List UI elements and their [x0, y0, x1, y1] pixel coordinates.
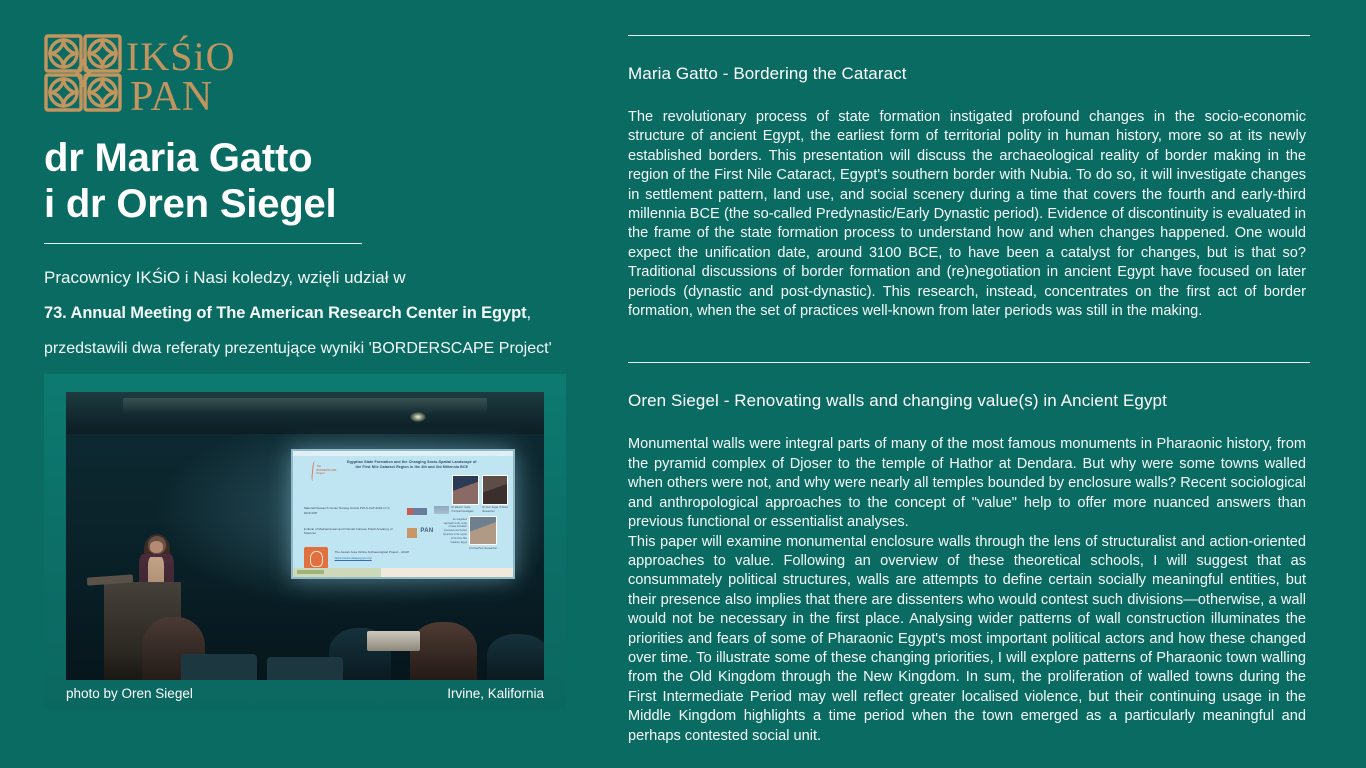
poster-page: IKŚiO PAN dr Maria Gatto i dr Oren Siege… — [0, 0, 1366, 768]
abstract-paragraph: This paper will examine monumental enclo… — [628, 533, 1306, 746]
svg-text:PAN: PAN — [130, 74, 213, 116]
audience-silhouette — [410, 622, 477, 680]
section-spacer — [628, 746, 1326, 754]
left-column: IKŚiO PAN dr Maria Gatto i dr Oren Siege… — [0, 0, 620, 768]
slide-portrait-caption-a: Dr Maria C. Gatto, Principal Investigato… — [452, 506, 481, 513]
auditorium-chair — [181, 654, 257, 680]
divider-middle — [628, 362, 1310, 363]
photo-credit: photo by Oren Siegel — [66, 686, 193, 701]
slide-portrait-caption-c: Dr Anna Pieri, Researcher — [469, 547, 500, 550]
intro-line-3: przedstawili dwa referaty prezentujące w… — [44, 337, 620, 360]
speaker-face — [150, 541, 163, 552]
slide-emblem-1 — [407, 508, 427, 515]
page-title: dr Maria Gatto i dr Oren Siegel — [44, 136, 620, 227]
slide-pan-label: PAN — [420, 528, 433, 534]
slide-affiliation: National Research Center Norway Grants P… — [304, 506, 397, 516]
conference-name: 73. Annual Meeting of The American Resea… — [44, 304, 527, 322]
abstract-heading-1: Maria Gatto - Bordering the Cataract — [628, 64, 1326, 84]
abstract-paragraph: The revolutionary process of state forma… — [628, 108, 1306, 321]
abstract-heading-2: Oren Siegel - Renovating walls and chang… — [628, 391, 1326, 411]
slide-portrait-c — [469, 516, 497, 545]
photo-ceiling-light — [410, 412, 426, 422]
section-spacer — [628, 321, 1326, 343]
pan-square-icon — [407, 528, 417, 538]
slide-blurb: An integrated approach to the study of s… — [443, 518, 467, 545]
slide-pan-logo: PAN — [407, 527, 442, 539]
abstract-body-1: The revolutionary process of state forma… — [628, 108, 1306, 321]
audience-laptop — [367, 631, 420, 651]
audience-silhouette — [487, 634, 544, 680]
slide-portrait-caption-b: Dr Oren Siegel, Postdoc Researcher — [482, 506, 511, 513]
slide-institute: Institute of Mediterranean and Oriental … — [304, 527, 397, 537]
logo-wordmark: IKŚiO PAN — [126, 30, 256, 116]
slide-project-title: The Aswan Area Online Archaeological Pro… — [335, 550, 410, 554]
projection-screen: The BORDERSCAPE Project Egyptian State F… — [291, 449, 516, 579]
slide-logo-text: The BORDERSCAPE Project — [316, 465, 341, 476]
conference-photo: The BORDERSCAPE Project Egyptian State F… — [66, 392, 544, 680]
auditorium-chair — [267, 657, 343, 680]
slide-project-line: The Aswan Area Online Archaeological Pro… — [335, 550, 434, 561]
svg-text:IKŚiO: IKŚiO — [126, 34, 235, 79]
intro-line-2: 73. Annual Meeting of The American Resea… — [44, 302, 620, 326]
slide-project-logo: The BORDERSCAPE Project — [304, 459, 342, 485]
photo-location: Irvine, Kalifornia — [447, 686, 544, 701]
abstract-paragraph: Monumental walls were integral parts of … — [628, 435, 1306, 532]
slide-akap-logo — [304, 547, 328, 569]
slide-top-bar — [293, 451, 514, 456]
photo-frame: The BORDERSCAPE Project Egyptian State F… — [44, 374, 566, 709]
slide-footer-bar — [293, 568, 514, 577]
slide-portrait-a — [452, 475, 480, 505]
intro-line-1: Pracownicy IKŚiO i Nasi koledzy, wzięli … — [44, 266, 620, 291]
slide-title: Egyptian State Formation and the Changin… — [346, 460, 478, 470]
divider-top — [628, 35, 1310, 36]
right-column: Maria Gatto - Bordering the Cataract The… — [620, 0, 1366, 768]
title-divider — [44, 243, 362, 244]
photo-ceiling — [66, 392, 544, 434]
organization-logo[interactable]: IKŚiO PAN — [44, 30, 254, 120]
slide-emblem-2 — [434, 506, 449, 514]
slide-portrait-b — [482, 475, 507, 505]
conference-name-tail: , — [527, 304, 531, 322]
abstract-body-2: Monumental walls were integral parts of … — [628, 435, 1306, 746]
slide-project-url: https://www.akapegypt.org/ — [335, 556, 372, 560]
photo-caption: photo by Oren Siegel Irvine, Kalifornia — [66, 686, 544, 701]
ornament-icon — [44, 34, 122, 112]
